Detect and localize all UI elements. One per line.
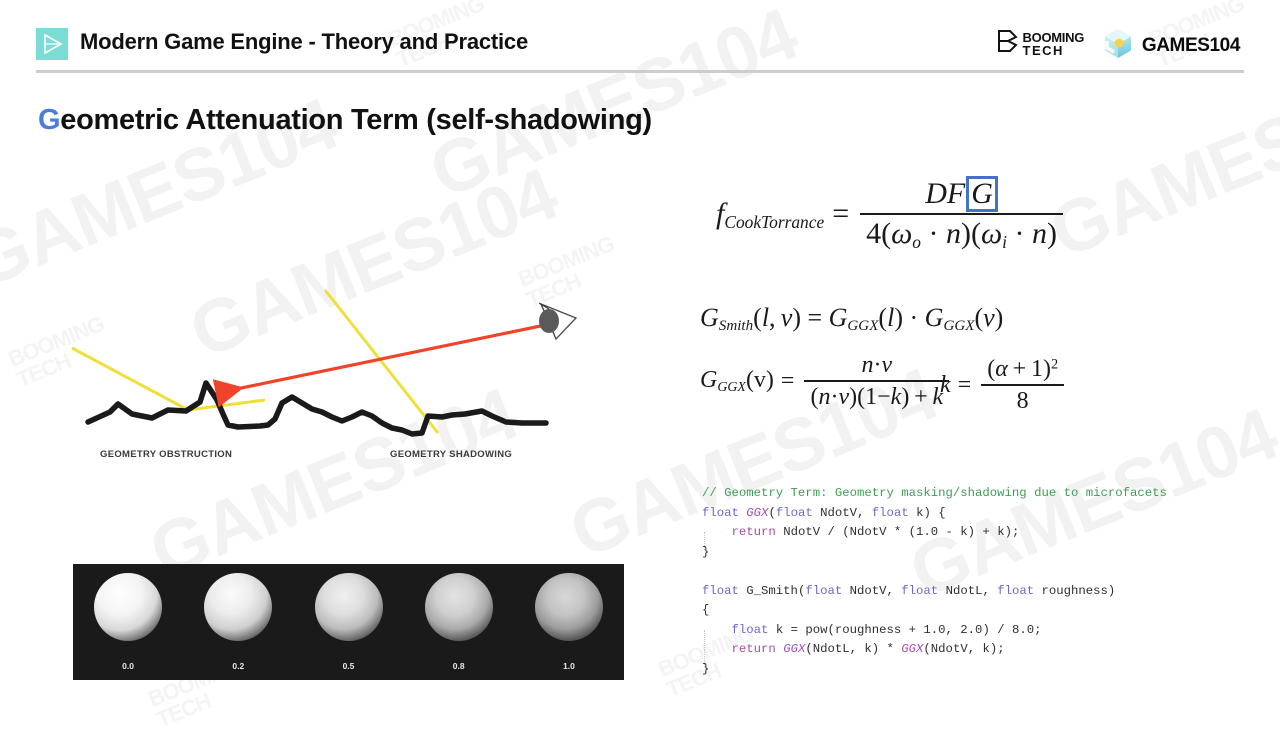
sphere-roughness-label: 0.5 — [343, 661, 355, 671]
header-divider — [36, 70, 1244, 73]
booming-b-monogram-icon — [997, 30, 1018, 57]
equation-k: k = (α + 1)2 8 — [940, 356, 1067, 415]
ggx-equals: = — [781, 368, 795, 395]
sphere-roughness-label: 1.0 — [563, 661, 575, 671]
diagram-label-shadowing: GEOMETRY SHADOWING — [390, 449, 512, 460]
equation-smith: GSmith(l, v) = GGGX(l) · GGGX(v) — [700, 303, 1003, 335]
sphere-cell: 0.8 — [404, 564, 514, 680]
sphere-cell: 0.0 — [73, 564, 183, 680]
cook-equals: = — [832, 197, 849, 231]
k-numerator: (α + 1)2 — [981, 356, 1064, 384]
slide-header: Modern Game Engine - Theory and Practice… — [0, 0, 1280, 78]
k-denominator: 8 — [981, 384, 1064, 415]
sphere-cell: 0.5 — [293, 564, 403, 680]
k-fraction: (α + 1)2 8 — [981, 356, 1064, 415]
play-triangle-icon — [36, 28, 68, 60]
page-title: Geometric Attenuation Term (self-shadowi… — [38, 104, 652, 137]
cook-numerator: DFG — [860, 176, 1063, 213]
equation-ggx: GGGX(v) = n·v (n·v)(1−k) + k — [700, 352, 952, 411]
cook-denominator: 4(ωo · n)(ωi · n) — [860, 213, 1063, 253]
sphere-render — [94, 573, 162, 641]
slide-canvas: GAMES104 GAMES104 GAMES104 GAMES104 GAME… — [0, 0, 1280, 744]
code-block: // Geometry Term: Geometry masking/shado… — [702, 484, 1167, 679]
booming-tech-wordmark: BOOMING TECH — [1023, 31, 1084, 57]
games104-wordmark: GAMES104 — [1142, 35, 1240, 57]
ggx-lhs: GGGX(v) — [700, 367, 774, 396]
roughness-sphere-strip: 0.0 0.2 0.5 0.8 1.0 — [73, 564, 624, 680]
cook-lhs: fCookTorrance — [716, 197, 824, 233]
light-ray-left-incoming — [72, 348, 188, 410]
diagram-label-obstruction: GEOMETRY OBSTRUCTION — [100, 449, 232, 460]
header-title: Modern Game Engine - Theory and Practice — [80, 29, 528, 55]
cook-fraction: DFG 4(ωo · n)(ωi · n) — [860, 176, 1063, 253]
equation-cook-torrance: fCookTorrance = DFG 4(ωo · n)(ωi · n) — [716, 176, 1066, 253]
light-ray-right-incoming — [325, 290, 438, 433]
sphere-render — [315, 573, 383, 641]
booming-tech-logo: BOOMING TECH — [997, 30, 1084, 57]
ggx-denominator: (n·v)(1−k) + k — [804, 380, 949, 411]
code-comment: // Geometry Term: Geometry masking/shado… — [702, 486, 1167, 500]
k-equals: = — [958, 372, 972, 399]
games104-cube-icon — [1103, 28, 1133, 64]
microfacet-surface — [88, 383, 546, 434]
sphere-roughness-label: 0.0 — [122, 661, 134, 671]
sphere-roughness-label: 0.2 — [232, 661, 244, 671]
games104-logo: GAMES104 — [1103, 28, 1240, 64]
sphere-roughness-label: 0.8 — [453, 661, 465, 671]
k-lhs: k — [940, 372, 951, 399]
ggx-fraction: n·v (n·v)(1−k) + k — [804, 352, 949, 411]
sphere-cell: 0.2 — [183, 564, 293, 680]
sphere-cell: 1.0 — [514, 564, 624, 680]
sphere-render — [425, 573, 493, 641]
camera-eye-icon — [539, 303, 576, 339]
sphere-render — [204, 573, 272, 641]
sphere-render — [535, 573, 603, 641]
page-title-rest: eometric Attenuation Term (self-shadowin… — [60, 104, 652, 136]
watermark-games104: GAMES104 — [1038, 51, 1280, 275]
microfacet-diagram — [60, 270, 620, 450]
view-ray — [222, 324, 550, 392]
ggx-numerator: n·v — [804, 352, 949, 380]
page-title-accent: G — [38, 104, 60, 136]
g-term-highlight-box: G — [966, 176, 998, 212]
